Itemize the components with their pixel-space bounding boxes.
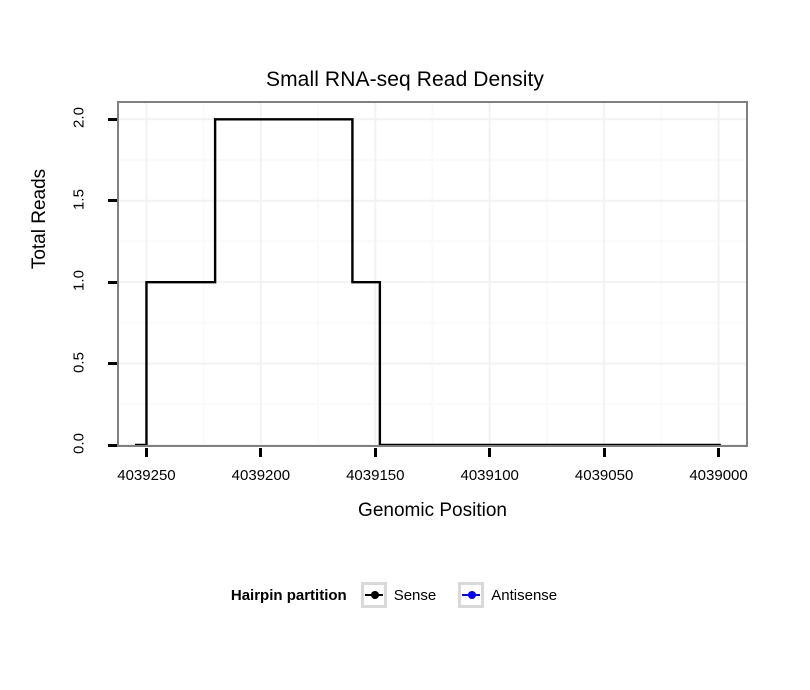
x-tick-mark (374, 448, 377, 457)
y-tick-mark (108, 281, 117, 284)
x-tick-label: 4039100 (435, 467, 545, 484)
y-tick-mark (108, 199, 117, 202)
x-tick-label: 4039150 (320, 467, 430, 484)
legend-label: Antisense (491, 587, 557, 604)
legend-key-point (371, 591, 379, 599)
legend-item-antisense[interactable]: Antisense (458, 582, 573, 608)
x-tick-mark (717, 448, 720, 457)
legend-title: Hairpin partition (231, 587, 347, 604)
legend-item-sense[interactable]: Sense (361, 582, 453, 608)
x-tick-label: 4039000 (664, 467, 774, 484)
y-tick-label: 1.0 (71, 258, 88, 304)
legend-items: SenseAntisense (361, 582, 579, 608)
legend-key-antisense-icon (458, 582, 484, 608)
y-tick-label: 0.5 (71, 339, 88, 385)
y-tick-label: 0.0 (71, 421, 88, 467)
plot-area (119, 103, 746, 445)
x-tick-mark (259, 448, 262, 457)
plot-panel (117, 101, 748, 447)
legend-key-point (468, 591, 476, 599)
y-tick-mark (108, 118, 117, 121)
chart-container: Small RNA-seq Read Density Total Reads 0… (0, 0, 810, 690)
x-axis-title: Genomic Position (117, 500, 748, 522)
y-tick-label: 2.0 (71, 95, 88, 141)
x-tick-label: 4039200 (206, 467, 316, 484)
y-axis-title: Total Reads (29, 139, 51, 299)
x-tick-label: 4039250 (91, 467, 201, 484)
x-tick-mark (603, 448, 606, 457)
y-tick-mark (108, 444, 117, 447)
y-tick-label: 1.5 (71, 176, 88, 222)
y-tick-mark (108, 362, 117, 365)
chart-legend: Hairpin partition SenseAntisense (0, 582, 810, 608)
legend-key-sense-icon (361, 582, 387, 608)
chart-title: Small RNA-seq Read Density (0, 68, 810, 92)
legend-label: Sense (394, 587, 437, 604)
grid-minor-lines (119, 103, 746, 445)
x-tick-label: 4039050 (549, 467, 659, 484)
x-tick-mark (145, 448, 148, 457)
x-tick-mark (488, 448, 491, 457)
